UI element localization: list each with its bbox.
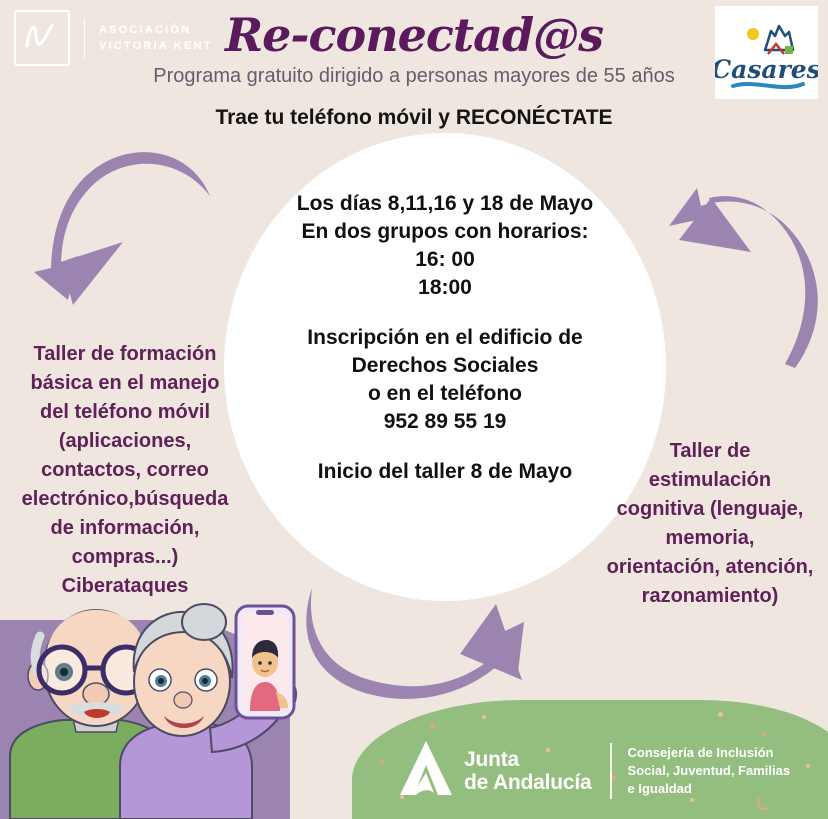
center-line: En dos grupos con horarios:	[224, 218, 666, 246]
association-name: ASOCIACIÓN VICTORIA KENT	[99, 22, 213, 54]
right-line: orientación, atención,	[596, 553, 824, 582]
center-line: 18:00	[224, 274, 666, 302]
center-line: Derechos Sociales	[224, 352, 666, 380]
right-line: estimulación	[596, 466, 824, 495]
sun-icon	[747, 28, 759, 40]
right-line: memoria,	[596, 524, 824, 553]
left-line: contactos, correo	[10, 456, 240, 485]
arrow-bottom-right	[300, 588, 555, 711]
page-tagline: Trae tu teléfono móvil y RECONÉCTATE	[0, 106, 828, 130]
center-line: 16: 00	[224, 246, 666, 274]
left-line: del teléfono móvil	[10, 398, 240, 427]
squiggle-n-mark-icon	[14, 10, 70, 66]
department-line: Social, Juventud, Familias	[628, 762, 791, 780]
left-workshop-description: Taller de formación básica en el manejo …	[10, 340, 240, 601]
left-line: electrónico,búsqueda	[10, 485, 240, 514]
green-block-icon	[785, 46, 793, 54]
left-line: (aplicaciones,	[10, 427, 240, 456]
left-line: Taller de formación	[10, 340, 240, 369]
right-workshop-description: Taller de estimulación cognitiva (lengua…	[596, 437, 824, 611]
junta-department: Consejería de Inclusión Social, Juventud…	[628, 744, 791, 798]
wave-icon	[733, 84, 803, 87]
junta-a-logo-icon	[398, 739, 454, 802]
junta-name: Junta de Andalucía	[464, 748, 592, 794]
junta-name-line-2: de Andalucía	[464, 771, 592, 794]
smartphone-with-video-call	[236, 606, 294, 718]
right-line: Taller de	[596, 437, 824, 466]
left-line: básica en el manejo	[10, 369, 240, 398]
association-line-2: VICTORIA KENT	[99, 38, 213, 54]
department-line: e Igualdad	[628, 780, 791, 798]
junta-name-line-1: Junta	[464, 748, 592, 771]
casares-wordmark: Casares	[715, 55, 818, 84]
right-line: cognitiva (lenguaje,	[596, 495, 824, 524]
left-line: de información,	[10, 514, 240, 543]
asociacion-victoria-kent-logo: ASOCIACIÓN VICTORIA KENT	[14, 10, 213, 66]
spacer	[224, 302, 666, 324]
poster-root: ASOCIACIÓN VICTORIA KENT Casares Re-cone…	[0, 0, 828, 819]
junta-de-andalucia-logo: Junta de Andalucía Consejería de Inclusi…	[398, 739, 790, 802]
elderly-couple-illustration	[0, 596, 300, 819]
junta-divider	[610, 743, 612, 799]
curved-arrow-icon	[645, 168, 825, 368]
right-line: razonamiento)	[596, 582, 824, 611]
arrow-left-down	[28, 150, 218, 330]
left-line: compras...)	[10, 543, 240, 572]
center-line: Inscripción en el edificio de	[224, 324, 666, 352]
center-line: o en el teléfono	[224, 380, 666, 408]
center-line: Los días 8,11,16 y 18 de Mayo	[224, 190, 666, 218]
casares-logo: Casares	[715, 6, 818, 99]
center-phone-number: 952 89 55 19	[224, 408, 666, 436]
logo-divider	[84, 18, 85, 58]
page-subtitle: Programa gratuito dirigido a personas ma…	[0, 65, 828, 88]
department-line: Consejería de Inclusión	[628, 744, 791, 762]
arrow-right-up	[645, 168, 825, 373]
curved-arrow-icon	[300, 588, 555, 706]
association-line-1: ASOCIACIÓN	[99, 22, 213, 38]
curved-arrow-icon	[28, 150, 218, 325]
